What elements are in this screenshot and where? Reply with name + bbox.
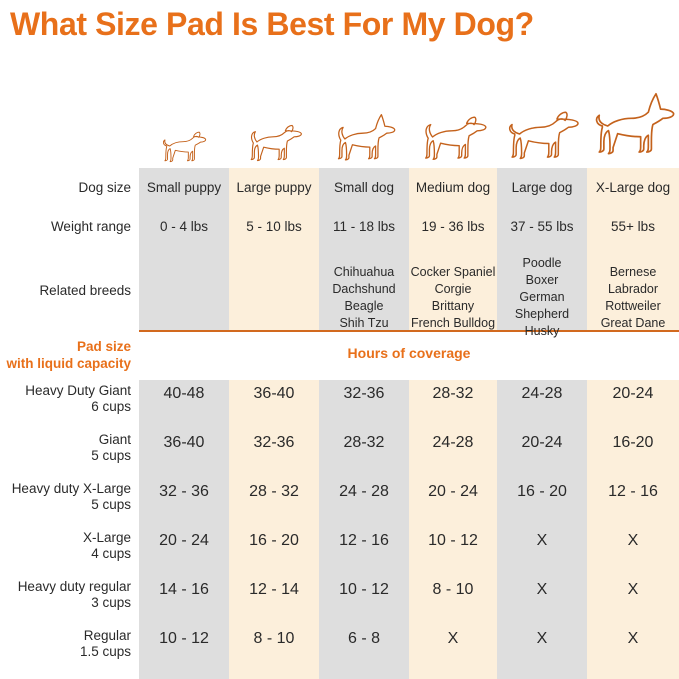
breed-name: Shih Tzu: [319, 315, 409, 332]
breed-name: Chihuahua: [319, 264, 409, 281]
coverage-cell-r4-c5: X: [497, 533, 587, 549]
hours-of-coverage-header: Hours of coverage: [139, 345, 679, 361]
pad-name: Heavy duty regular: [0, 579, 131, 595]
coverage-cell-r4-c6: X: [587, 533, 679, 549]
pad-capacity: 4 cups: [0, 546, 131, 562]
breed-name: Beagle: [319, 298, 409, 315]
breed-name: Husky: [497, 323, 587, 340]
breed-name: Shepherd: [497, 306, 587, 323]
weight-range-cell-3: 11 - 18 lbs: [319, 219, 409, 235]
breed-name: Rottweiler: [587, 298, 679, 315]
coverage-cell-r5-c1: 14 - 16: [139, 582, 229, 598]
dog-size-cell-4: Medium dog: [409, 180, 497, 196]
coverage-cell-r3-c4: 20 - 24: [409, 484, 497, 500]
related-breeds-cell-4: Cocker SpanielCorgieBrittanyFrench Bulld…: [409, 264, 497, 332]
coverage-cell-r6-c1: 10 - 12: [139, 631, 229, 647]
coverage-cell-r2-c6: 16-20: [587, 435, 679, 451]
pad-capacity: 3 cups: [0, 595, 131, 611]
coverage-cell-r5-c3: 10 - 12: [319, 582, 409, 598]
dog-size-cell-3: Small dog: [319, 180, 409, 196]
coverage-cell-r6-c3: 6 - 8: [319, 631, 409, 647]
coverage-cell-r6-c2: 8 - 10: [229, 631, 319, 647]
coverage-cell-r2-c2: 32-36: [229, 435, 319, 451]
coverage-cell-r5-c2: 12 - 14: [229, 582, 319, 598]
pad-capacity: 5 cups: [0, 448, 131, 464]
coverage-cell-r3-c2: 28 - 32: [229, 484, 319, 500]
medium-dog-icon: [409, 80, 497, 168]
pad-name: X-Large: [0, 530, 131, 546]
pad-row-label-4: X-Large4 cups: [0, 530, 131, 562]
breed-name: Dachshund: [319, 281, 409, 298]
weight-range-cell-5: 37 - 55 lbs: [497, 219, 587, 235]
breed-name: Bernese: [587, 264, 679, 281]
pad-name: Heavy Duty Giant: [0, 383, 131, 399]
pad-row-label-5: Heavy duty regular3 cups: [0, 579, 131, 611]
coverage-cell-r4-c2: 16 - 20: [229, 533, 319, 549]
small-puppy-dog-icon: [139, 80, 229, 168]
large-puppy-dog-icon: [229, 80, 319, 168]
infographic-page: What Size Pad Is Best For My Dog? Dog si…: [0, 0, 679, 679]
breed-name: Labrador: [587, 281, 679, 298]
weight-range-cell-6: 55+ lbs: [587, 219, 679, 235]
pad-capacity: 1.5 cups: [0, 644, 131, 660]
page-title: What Size Pad Is Best For My Dog?: [10, 6, 670, 43]
coverage-cell-r5-c5: X: [497, 582, 587, 598]
coverage-cell-r3-c3: 24 - 28: [319, 484, 409, 500]
dog-size-cell-2: Large puppy: [229, 180, 319, 196]
coverage-cell-r2-c5: 20-24: [497, 435, 587, 451]
x-large-dog-icon: [587, 80, 679, 168]
breed-name: Boxer: [497, 272, 587, 289]
coverage-cell-r6-c4: X: [409, 631, 497, 647]
dog-size-cell-5: Large dog: [497, 180, 587, 196]
breed-name: French Bulldog: [409, 315, 497, 332]
coverage-cell-r4-c1: 20 - 24: [139, 533, 229, 549]
row-label-pad-size: Pad size with liquid capacity: [0, 338, 131, 372]
pad-name: Regular: [0, 628, 131, 644]
coverage-cell-r2-c3: 28-32: [319, 435, 409, 451]
pad-row-label-6: Regular1.5 cups: [0, 628, 131, 660]
large-dog-icon: [497, 80, 587, 168]
row-label-dog-size: Dog size: [0, 180, 131, 196]
coverage-cell-r3-c6: 12 - 16: [587, 484, 679, 500]
coverage-cell-r5-c4: 8 - 10: [409, 582, 497, 598]
weight-range-cell-2: 5 - 10 lbs: [229, 219, 319, 235]
coverage-cell-r2-c1: 36-40: [139, 435, 229, 451]
pad-name: Heavy duty X-Large: [0, 481, 131, 497]
breed-name: Corgie: [409, 281, 497, 298]
dog-size-cell-1: Small puppy: [139, 180, 229, 196]
pad-capacity: 5 cups: [0, 497, 131, 513]
coverage-cell-r4-c4: 10 - 12: [409, 533, 497, 549]
row-label-weight-range: Weight range: [0, 219, 131, 235]
coverage-cell-r6-c6: X: [587, 631, 679, 647]
pad-size-line-2: with liquid capacity: [0, 355, 131, 372]
breed-name: German: [497, 289, 587, 306]
related-breeds-cell-6: BerneseLabradorRottweilerGreat Dane: [587, 264, 679, 332]
dog-size-cell-6: X-Large dog: [587, 180, 679, 196]
pad-row-label-1: Heavy Duty Giant6 cups: [0, 383, 131, 415]
coverage-cell-r6-c5: X: [497, 631, 587, 647]
coverage-cell-r1-c3: 32-36: [319, 386, 409, 402]
related-breeds-cell-5: PoodleBoxerGermanShepherdHusky: [497, 255, 587, 340]
breed-name: Brittany: [409, 298, 497, 315]
coverage-cell-r1-c6: 20-24: [587, 386, 679, 402]
coverage-cell-r3-c1: 32 - 36: [139, 484, 229, 500]
coverage-cell-r1-c2: 36-40: [229, 386, 319, 402]
coverage-cell-r4-c3: 12 - 16: [319, 533, 409, 549]
pad-name: Giant: [0, 432, 131, 448]
coverage-cell-r2-c4: 24-28: [409, 435, 497, 451]
breed-name: Great Dane: [587, 315, 679, 332]
pad-capacity: 6 cups: [0, 399, 131, 415]
pad-row-label-3: Heavy duty X-Large5 cups: [0, 481, 131, 513]
related-breeds-cell-3: ChihuahuaDachshundBeagleShih Tzu: [319, 264, 409, 332]
small-dog-icon: [319, 80, 409, 168]
coverage-cell-r1-c1: 40-48: [139, 386, 229, 402]
row-label-related-breeds: Related breeds: [0, 283, 131, 299]
breed-name: Cocker Spaniel: [409, 264, 497, 281]
coverage-cell-r1-c4: 28-32: [409, 386, 497, 402]
weight-range-cell-4: 19 - 36 lbs: [409, 219, 497, 235]
breed-name: Poodle: [497, 255, 587, 272]
pad-size-line-1: Pad size: [0, 338, 131, 355]
coverage-cell-r1-c5: 24-28: [497, 386, 587, 402]
pad-row-label-2: Giant5 cups: [0, 432, 131, 464]
coverage-cell-r3-c5: 16 - 20: [497, 484, 587, 500]
weight-range-cell-1: 0 - 4 lbs: [139, 219, 229, 235]
coverage-cell-r5-c6: X: [587, 582, 679, 598]
dog-icon-row: [139, 80, 679, 168]
